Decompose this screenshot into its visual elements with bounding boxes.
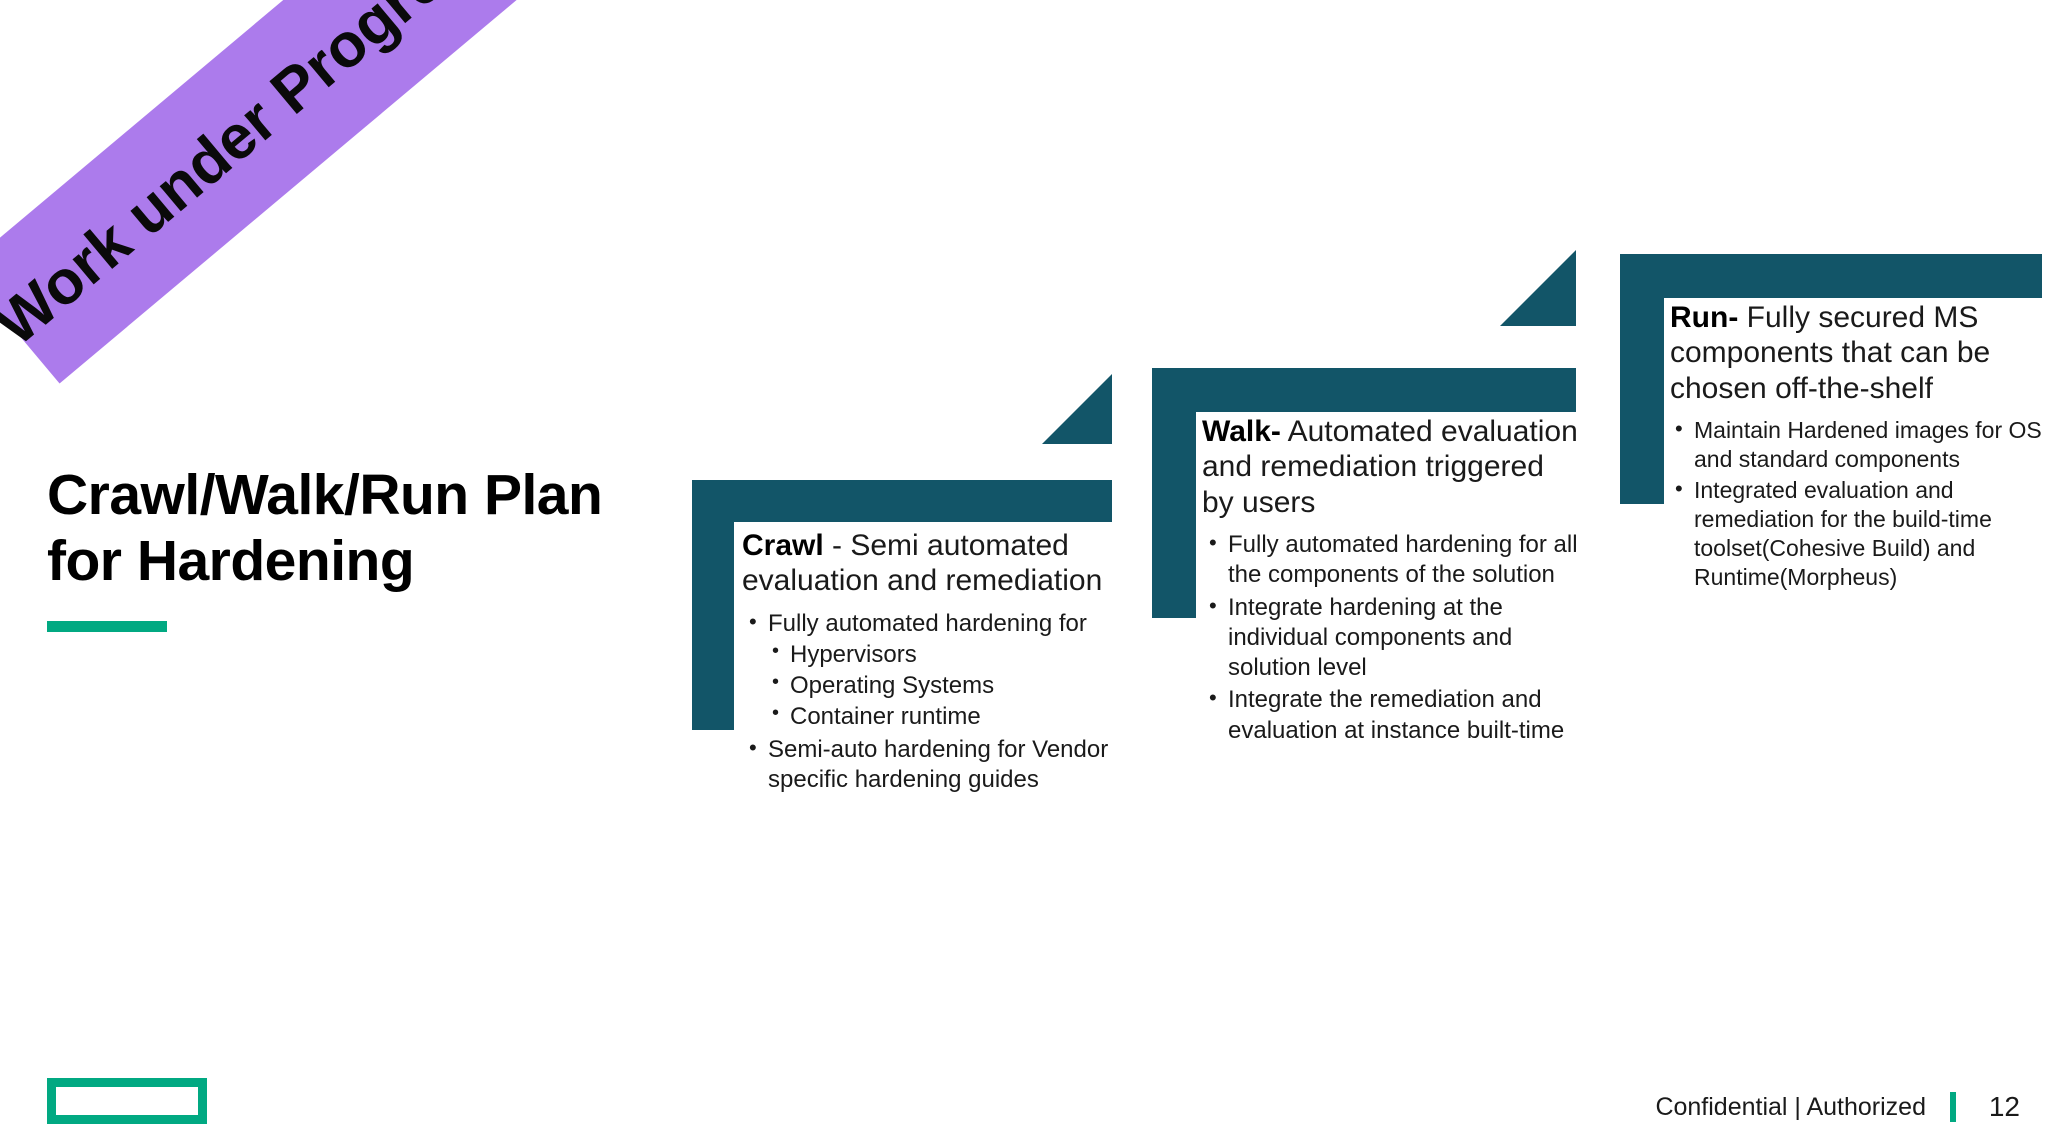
- list-item: Operating Systems: [790, 670, 1132, 701]
- page-number: 12: [1980, 1091, 2020, 1123]
- work-under-progress-label: Work under Progress: [0, 0, 509, 359]
- stage-head-rest-crawl: - Semi automated evaluation and remediat…: [742, 529, 1102, 597]
- bullet-text: Fully automated hardening for: [768, 610, 1087, 637]
- hpe-logo: [47, 1078, 207, 1124]
- page-title: Crawl/Walk/Run Plan for Hardening: [47, 462, 647, 594]
- work-under-progress-banner: Work under Progress: [0, 0, 527, 384]
- stage-body-run: Run- Fully secured MS components that ca…: [1670, 300, 2042, 594]
- stage-head-crawl: Crawl - Semi automated evaluation and re…: [742, 528, 1132, 599]
- list-item: Fully automated hardening for Hypervisor…: [768, 609, 1132, 733]
- list-item: Fully automated hardening for all the co…: [1228, 530, 1578, 590]
- stage-head-run: Run- Fully secured MS components that ca…: [1670, 300, 2042, 406]
- list-item: Container runtime: [790, 701, 1132, 732]
- list-item: Integrated evaluation and remediation fo…: [1694, 476, 2042, 592]
- stage-sub-bullets-crawl: Hypervisors Operating Systems Container …: [768, 639, 1132, 733]
- stage-arrow-walk: [1500, 250, 1576, 326]
- stage-head-rest-walk: Automated evaluation and remediation tri…: [1202, 415, 1578, 519]
- stage-bullets-walk: Fully automated hardening for all the co…: [1202, 530, 1578, 746]
- list-item: Integrate hardening at the individual co…: [1228, 593, 1578, 684]
- stage-head-walk: Walk- Automated evaluation and remediati…: [1202, 414, 1578, 520]
- confidentiality-note: Confidential | Authorized: [1655, 1093, 1926, 1122]
- stage-head-rest-run: Fully secured MS components that can be …: [1670, 301, 1990, 405]
- stage-leftbar-crawl: [692, 480, 734, 730]
- stage-topbar-run: [1620, 254, 2042, 298]
- stage-bullets-run: Maintain Hardened images for OS and stan…: [1670, 416, 2042, 592]
- title-accent-bar: [47, 621, 167, 632]
- stage-body-walk: Walk- Automated evaluation and remediati…: [1202, 414, 1578, 748]
- stage-head-bold-run: Run-: [1670, 301, 1738, 334]
- stage-arrow-crawl: [1042, 374, 1112, 444]
- stage-leftbar-walk: [1152, 368, 1196, 618]
- list-item: Maintain Hardened images for OS and stan…: [1694, 416, 2042, 474]
- title-block: Crawl/Walk/Run Plan for Hardening: [47, 462, 647, 632]
- stage-topbar-crawl: [692, 480, 1112, 522]
- footer: Confidential | Authorized 12: [1655, 1091, 2020, 1123]
- stage-topbar-walk: [1152, 368, 1576, 412]
- stage-head-bold-crawl: Crawl: [742, 529, 824, 562]
- stage-bullets-crawl: Fully automated hardening for Hypervisor…: [742, 609, 1132, 795]
- list-item: Hypervisors: [790, 639, 1132, 670]
- list-item: Semi-auto hardening for Vendor specific …: [768, 735, 1132, 795]
- slide-canvas: Work under Progress Crawl/Walk/Run Plan …: [0, 0, 2050, 1141]
- list-item: Integrate the remediation and evaluation…: [1228, 685, 1578, 745]
- stage-body-crawl: Crawl - Semi automated evaluation and re…: [742, 528, 1132, 797]
- footer-separator-icon: [1950, 1092, 1956, 1122]
- stage-leftbar-run: [1620, 254, 1664, 504]
- stage-head-bold-walk: Walk-: [1202, 415, 1281, 448]
